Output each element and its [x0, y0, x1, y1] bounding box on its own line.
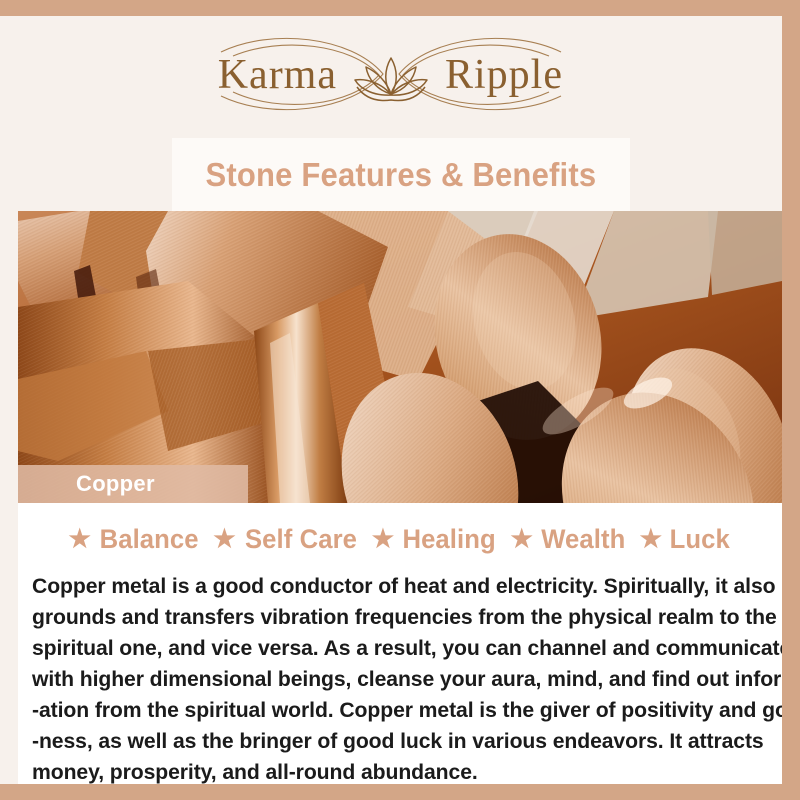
- brand-name-left: Karma: [218, 52, 337, 98]
- star-icon: ★: [640, 527, 663, 552]
- description-line: -ness, as well as the bringer of good lu…: [32, 726, 757, 757]
- brand-logo: Karma Ripple: [0, 16, 782, 138]
- description-line: Copper metal is a good conductor of heat…: [32, 571, 757, 602]
- feature-item-wealth: ★ Wealth: [510, 524, 627, 555]
- features-row: ★ Balance ★ Self Care ★ Healing ★ Wealth…: [18, 503, 782, 565]
- star-icon: ★: [372, 527, 395, 552]
- content-panel: ★ Balance ★ Self Care ★ Healing ★ Wealth…: [18, 503, 782, 784]
- star-icon: ★: [68, 527, 91, 552]
- feature-item-self-care: ★ Self Care: [213, 524, 359, 555]
- brand-name-right: Ripple: [445, 52, 563, 98]
- stone-name-label: Copper: [76, 471, 155, 497]
- description-paragraph: Copper metal is a good conductor of heat…: [32, 571, 768, 784]
- description-line: with higher dimensional beings, cleanse …: [32, 664, 757, 695]
- feature-label: Wealth: [541, 524, 625, 555]
- logo-graphic: Karma Ripple: [161, 30, 621, 122]
- star-icon: ★: [510, 527, 533, 552]
- copper-bars-photo: Copper: [18, 211, 782, 503]
- page-title: Stone Features & Benefits: [206, 156, 597, 194]
- description-line: grounds and transfers vibration frequenc…: [32, 602, 757, 633]
- feature-item-healing: ★ Healing: [372, 524, 499, 555]
- feature-label: Healing: [403, 524, 496, 555]
- photo-graphic: [18, 211, 782, 503]
- feature-item-luck: ★ Luck: [640, 524, 732, 555]
- description-line: money, prosperity, and all-round abundan…: [32, 757, 757, 784]
- photo-caption-bar: Copper: [18, 465, 248, 503]
- logo-wrap: Karma Ripple: [161, 30, 621, 122]
- title-banner: Stone Features & Benefits: [172, 138, 630, 211]
- star-icon: ★: [213, 527, 236, 552]
- feature-label: Luck: [670, 524, 730, 555]
- description-line: -ation from the spiritual world. Copper …: [32, 695, 757, 726]
- page-inner: Karma Ripple Stone Features & Benefits: [0, 16, 782, 784]
- feature-label: Self Care: [245, 524, 357, 555]
- feature-item-balance: ★ Balance: [68, 524, 201, 555]
- infographic-card: Karma Ripple Stone Features & Benefits: [0, 0, 800, 800]
- description-line: spiritual one, and vice versa. As a resu…: [32, 633, 757, 664]
- feature-label: Balance: [100, 524, 199, 555]
